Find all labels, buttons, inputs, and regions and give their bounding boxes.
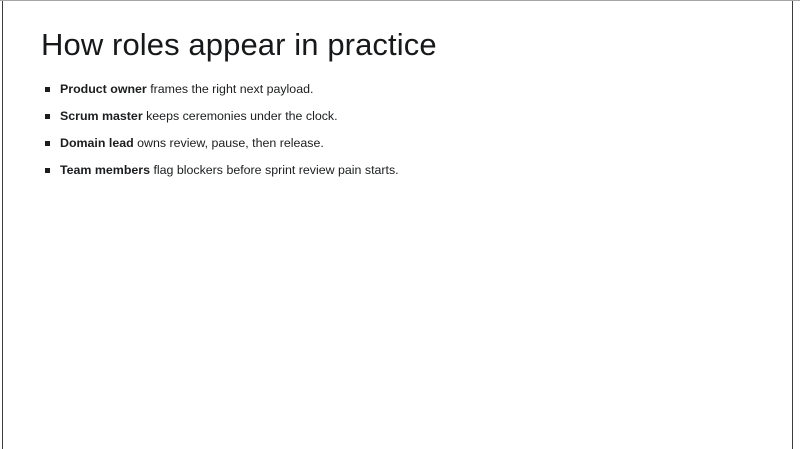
list-item-text: owns review, pause, then release. [134,136,324,150]
list-item: Scrum master keeps ceremonies under the … [41,103,399,130]
slide-top-border [0,0,800,1]
slide-right-border [792,1,793,449]
square-bullet-icon [45,168,50,173]
slide-title: How roles appear in practice [41,26,437,64]
list-item: Product owner frames the right next payl… [41,76,399,103]
square-bullet-icon [45,87,50,92]
square-bullet-icon [45,114,50,119]
list-item-lead: Scrum master [60,109,143,123]
list-item-lead: Product owner [60,82,147,96]
list-item-lead: Team members [60,163,150,177]
list-item: Team members flag blockers before sprint… [41,157,399,184]
list-item-text: keeps ceremonies under the clock. [143,109,338,123]
presentation-slide: How roles appear in practice Product own… [0,0,800,449]
square-bullet-icon [45,141,50,146]
list-item-text: frames the right next payload. [147,82,314,96]
bullet-list: Product owner frames the right next payl… [41,76,399,184]
list-item-text: flag blockers before sprint review pain … [150,163,399,177]
list-item-lead: Domain lead [60,136,134,150]
list-item: Domain lead owns review, pause, then rel… [41,130,399,157]
slide-left-border [2,1,3,449]
